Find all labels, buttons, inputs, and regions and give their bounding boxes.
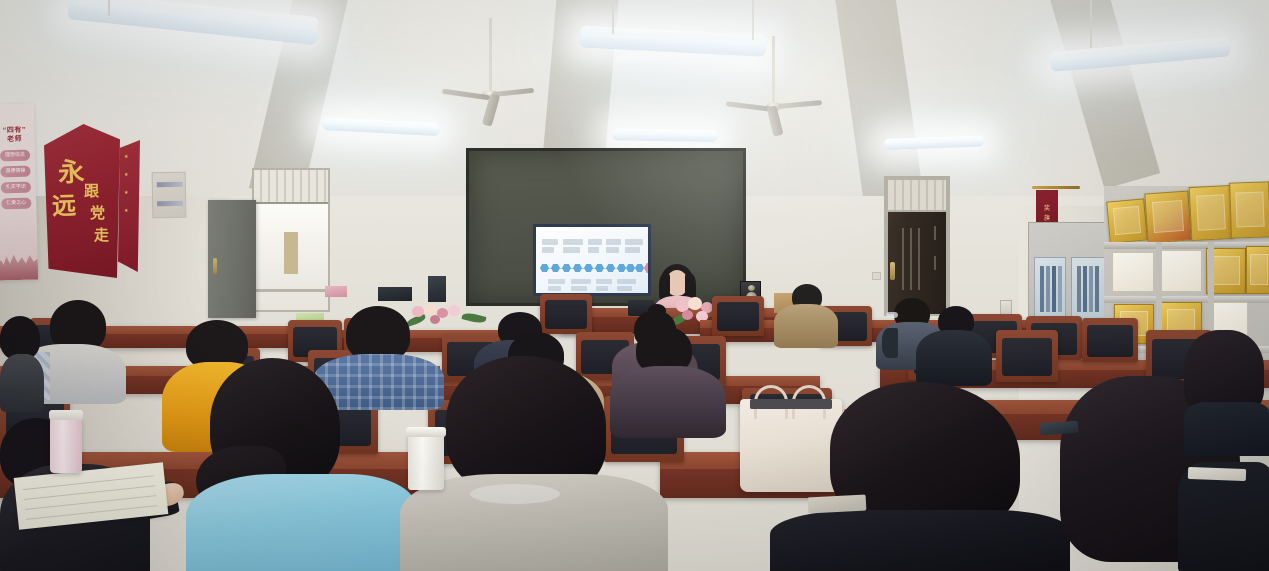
plaque-inner bbox=[1236, 191, 1265, 228]
wooden-chair[interactable] bbox=[1082, 318, 1138, 362]
equipment-case bbox=[378, 287, 412, 301]
banner-side-strip: ★ ★ ★ ★ bbox=[118, 140, 140, 272]
slide-bottom-label bbox=[617, 279, 636, 284]
slide-bottom-label bbox=[596, 279, 612, 284]
slide-top-label bbox=[588, 247, 599, 253]
file-binder bbox=[1058, 266, 1062, 312]
door-groove bbox=[934, 256, 936, 270]
equipment-box bbox=[428, 276, 446, 302]
poster-skyline-graphic bbox=[0, 245, 38, 280]
star-icon: ★ bbox=[124, 208, 128, 214]
poster-four-haves-teacher: “四有” 老师 理想信念 道德情操 扎实学识 仁爱之心 bbox=[0, 104, 38, 281]
slide-bottom-label bbox=[617, 286, 632, 291]
attendee-light-blue-sweater bbox=[176, 358, 416, 571]
wall-mounted-sign bbox=[152, 172, 187, 219]
left-door-transom-window bbox=[254, 170, 328, 204]
slide-node-accent bbox=[644, 263, 648, 273]
file-binder bbox=[1040, 266, 1044, 312]
file-binder bbox=[1083, 266, 1087, 312]
attendee-black-coat-back-right bbox=[916, 306, 992, 382]
attendee-right-back bbox=[1184, 330, 1269, 450]
flower-petal bbox=[448, 305, 460, 316]
torso bbox=[916, 330, 992, 386]
file-binder bbox=[1077, 266, 1081, 312]
slide-top-label bbox=[563, 239, 583, 245]
arm bbox=[882, 328, 898, 358]
poster-item: 仁爱之心 bbox=[1, 197, 31, 209]
door-handle-icon[interactable] bbox=[890, 262, 895, 280]
fan-blade bbox=[767, 105, 784, 137]
light-drop-rod bbox=[752, 0, 754, 40]
file-binder bbox=[1052, 266, 1056, 312]
door-groove bbox=[910, 228, 912, 290]
slide-top-label bbox=[563, 247, 580, 253]
ceiling-beam bbox=[1041, 0, 1160, 189]
plaque-inner bbox=[1152, 200, 1184, 234]
attendee-left-edge bbox=[0, 316, 42, 404]
star-icon: ★ bbox=[124, 190, 128, 196]
sign-bar bbox=[157, 182, 183, 187]
slide-node bbox=[584, 264, 593, 272]
torso bbox=[770, 510, 1070, 571]
poster-item: 扎实学识 bbox=[1, 181, 31, 193]
corridor-pillar bbox=[284, 232, 298, 274]
plaque-inner bbox=[1212, 256, 1239, 285]
meeting-room-photo: “四有” 老师 理想信念 道德情操 扎实学识 仁爱之心 永 远 跟 党 走 ★ … bbox=[0, 0, 1269, 571]
glasses-icon bbox=[886, 312, 898, 318]
banner-char-2: 远 bbox=[51, 186, 76, 222]
hood-collar bbox=[470, 484, 560, 504]
interactive-smartboard[interactable] bbox=[533, 224, 651, 296]
presentation-slide bbox=[536, 227, 648, 293]
light-drop-rod bbox=[612, 0, 614, 34]
sign-bar bbox=[157, 201, 183, 206]
chair-backrest bbox=[1002, 338, 1053, 375]
cup-lid bbox=[406, 427, 446, 437]
file-binder bbox=[1095, 266, 1099, 312]
banner-char-4: 党 bbox=[90, 202, 105, 223]
star-icon: ★ bbox=[124, 172, 128, 178]
pennant-pole bbox=[1032, 186, 1080, 189]
attendee-black-coat-right bbox=[770, 382, 1070, 571]
file-binder bbox=[1089, 266, 1093, 312]
gold-award-plaque bbox=[1106, 198, 1148, 243]
fan-blade bbox=[442, 89, 490, 101]
slide-top-label bbox=[606, 247, 619, 253]
poster-item: 理想信念 bbox=[0, 149, 30, 161]
chair-backrest bbox=[1087, 325, 1133, 357]
banner-char-5: 走 bbox=[94, 224, 109, 245]
cabinet-glass-door[interactable] bbox=[1071, 257, 1105, 319]
slide-node bbox=[595, 264, 604, 272]
slide-node bbox=[562, 264, 571, 272]
fan-drop-rod bbox=[772, 36, 775, 104]
door-groove bbox=[934, 226, 936, 240]
slide-node bbox=[606, 264, 615, 272]
file-binder bbox=[1046, 266, 1050, 312]
slide-top-label bbox=[625, 247, 640, 253]
attendee-khaki-jacket bbox=[774, 284, 838, 344]
wall-outlet-icon bbox=[872, 272, 881, 280]
fan-blade bbox=[726, 101, 772, 112]
star-icon: ★ bbox=[124, 154, 128, 160]
framed-certificate bbox=[1112, 252, 1154, 292]
plaque-inner bbox=[1196, 195, 1227, 231]
fluorescent-tube-light bbox=[67, 0, 319, 45]
fluorescent-tube-light bbox=[322, 117, 441, 136]
shelf-divider bbox=[1208, 242, 1214, 296]
slide-bottom-label bbox=[571, 286, 587, 291]
poster-item: 道德情操 bbox=[0, 165, 30, 177]
slide-node bbox=[573, 264, 582, 272]
slide-bottom-label bbox=[548, 286, 561, 291]
door-groove bbox=[918, 228, 920, 290]
slide-top-label bbox=[606, 239, 621, 245]
slide-top-label bbox=[542, 247, 554, 253]
gold-award-plaque bbox=[1144, 191, 1191, 244]
slide-bottom-label bbox=[596, 286, 608, 291]
slide-node bbox=[626, 264, 635, 272]
gold-award-plaque bbox=[1246, 246, 1269, 294]
wooden-chair[interactable] bbox=[996, 330, 1058, 382]
open-doorway-corridor bbox=[256, 204, 328, 310]
torso bbox=[0, 354, 44, 412]
slide-bottom-label bbox=[548, 279, 565, 284]
poster-title-line2: 老师 bbox=[0, 135, 35, 145]
slide-node bbox=[635, 264, 644, 272]
slide-top-label bbox=[542, 239, 558, 245]
paper-sheet bbox=[1188, 467, 1246, 481]
fluorescent-tube-light bbox=[884, 135, 984, 149]
banner-follow-the-party: 永 远 跟 党 走 bbox=[44, 124, 120, 278]
framed-certificate bbox=[1158, 250, 1202, 292]
speaker-tweeter bbox=[748, 285, 755, 291]
paper-sheet bbox=[808, 494, 867, 513]
slide-bottom-label bbox=[571, 279, 591, 284]
door-handle-icon[interactable] bbox=[213, 258, 217, 274]
shelf-divider bbox=[1156, 242, 1162, 296]
corridor-railing bbox=[256, 289, 328, 292]
banner-char-1: 永 bbox=[57, 151, 85, 189]
thermos-lid bbox=[49, 410, 83, 420]
right-door-transom-window bbox=[888, 180, 946, 210]
torso bbox=[774, 304, 838, 348]
plaque-inner bbox=[1250, 254, 1267, 284]
light-drop-rod bbox=[1090, 0, 1092, 48]
gold-award-plaque bbox=[1189, 185, 1234, 241]
pennant-text-1: 奖 bbox=[1036, 206, 1058, 214]
fan-blade bbox=[778, 100, 822, 109]
light-drop-rod bbox=[108, 0, 110, 16]
cabinet-glass-door[interactable] bbox=[1034, 257, 1066, 319]
hair-bun-top bbox=[648, 304, 666, 318]
torso bbox=[186, 474, 416, 571]
slide-top-label bbox=[625, 239, 643, 245]
slide-top-label bbox=[588, 239, 602, 245]
fluorescent-tube-light bbox=[612, 128, 718, 142]
slide-node bbox=[617, 264, 626, 272]
door-groove bbox=[902, 228, 904, 290]
small-box bbox=[325, 286, 347, 297]
banner-char-3: 跟 bbox=[84, 180, 99, 201]
plaque-inner bbox=[1113, 206, 1141, 235]
torso bbox=[1184, 402, 1269, 456]
white-travel-cup bbox=[408, 434, 444, 490]
pink-thermos-cup bbox=[50, 417, 82, 473]
fan-drop-rod bbox=[489, 18, 492, 92]
gold-award-plaque bbox=[1229, 181, 1269, 238]
slide-node bbox=[551, 264, 560, 272]
slide-node bbox=[540, 264, 549, 272]
